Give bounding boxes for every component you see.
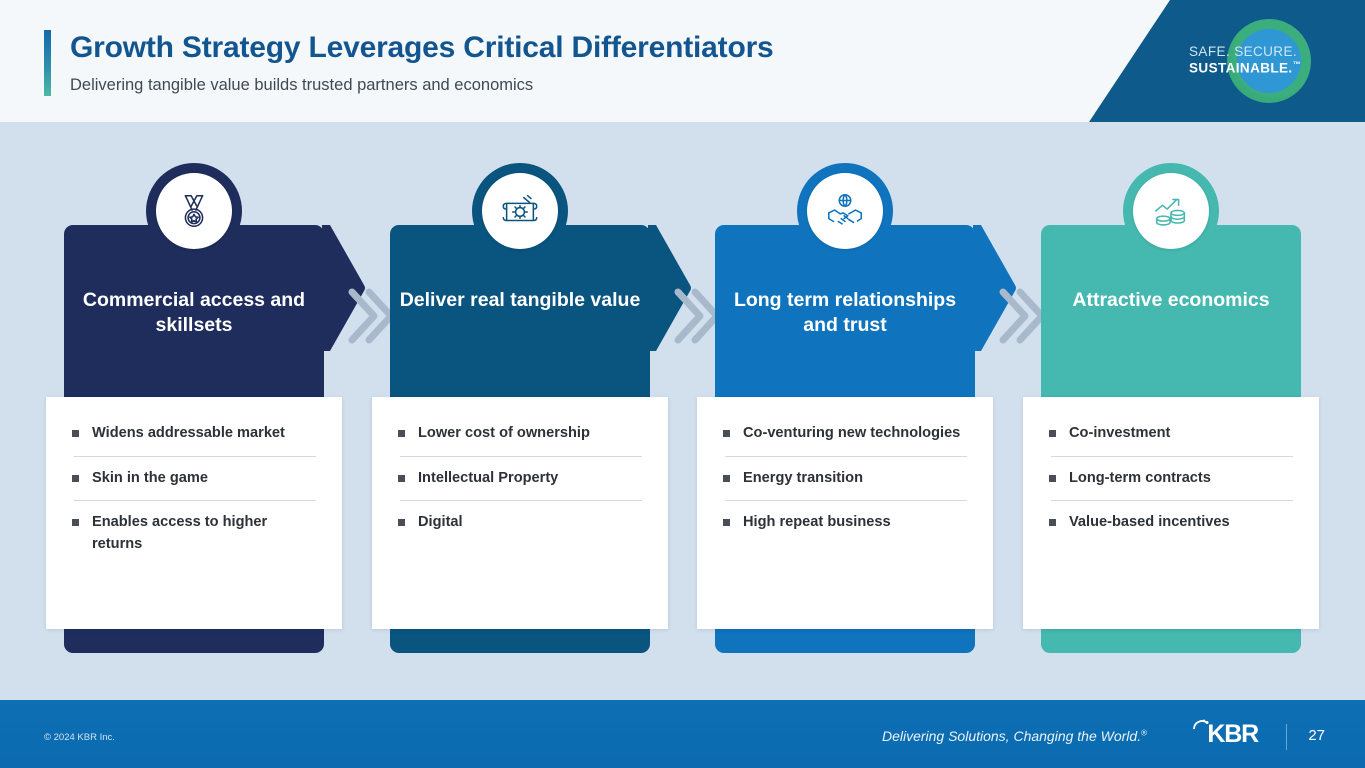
bullet-square-icon — [72, 519, 79, 526]
list-item[interactable]: Value-based incentives — [1049, 512, 1297, 534]
list-item[interactable]: Co-venturing new technologies — [723, 423, 971, 445]
list-item-label: Widens addressable market — [92, 423, 285, 445]
bullet-list: Co-venturing new technologiesEnergy tran… — [697, 397, 993, 534]
list-item-label: High repeat business — [743, 512, 891, 534]
page-number: 27 — [1308, 727, 1325, 744]
list-item-label: Intellectual Property — [418, 468, 558, 490]
stage-title: Long term relationships and trust — [715, 288, 975, 338]
bullet-square-icon — [723, 519, 730, 526]
list-item-label: Enables access to higher returns — [92, 512, 320, 555]
stage-icon-badge — [146, 163, 242, 259]
page-subtitle: Delivering tangible value builds trusted… — [70, 76, 533, 95]
list-item-label: Energy transition — [743, 468, 863, 490]
list-item[interactable]: Widens addressable market — [72, 423, 320, 445]
list-item-label: Skin in the game — [92, 468, 208, 490]
list-item-label: Lower cost of ownership — [418, 423, 590, 445]
bullet-list: Lower cost of ownershipIntellectual Prop… — [372, 397, 668, 534]
flow-arrow-icon — [348, 287, 394, 345]
list-divider — [725, 500, 967, 501]
footer-divider — [1286, 724, 1287, 750]
stage-icon-badge — [472, 163, 568, 259]
list-item-label: Digital — [418, 512, 463, 534]
bullet-square-icon — [723, 475, 730, 482]
bullet-list: Co-investmentLong-term contractsValue-ba… — [1023, 397, 1319, 534]
list-item-label: Long-term contracts — [1069, 468, 1211, 490]
list-item-label: Value-based incentives — [1069, 512, 1230, 534]
bullet-square-icon — [398, 430, 405, 437]
list-divider — [74, 456, 316, 457]
list-item-label: Co-venturing new technologies — [743, 423, 960, 445]
bullet-square-icon — [1049, 475, 1056, 482]
stage-detail-panel: Widens addressable marketSkin in the gam… — [46, 397, 342, 629]
title-accent-bar — [44, 30, 51, 96]
logo-line-1: SAFE. SECURE. — [1189, 44, 1301, 60]
coins-growth-icon — [1133, 173, 1209, 249]
list-item[interactable]: Digital — [398, 512, 646, 534]
kbr-wordmark: KBR — [1207, 722, 1258, 747]
slide-header: Growth Strategy Leverages Critical Diffe… — [0, 0, 1365, 122]
stage-title: Attractive economics — [1041, 288, 1301, 313]
bullet-square-icon — [723, 430, 730, 437]
list-divider — [400, 456, 642, 457]
stage-detail-panel: Lower cost of ownershipIntellectual Prop… — [372, 397, 668, 629]
list-item[interactable]: Co-investment — [1049, 423, 1297, 445]
flow-arrow-icon — [674, 287, 720, 345]
list-divider — [1051, 456, 1293, 457]
stage-title: Commercial access and skillsets — [64, 288, 324, 338]
list-item[interactable]: Lower cost of ownership — [398, 423, 646, 445]
stage-icon-badge — [797, 163, 893, 259]
bullet-square-icon — [1049, 519, 1056, 526]
page-title: Growth Strategy Leverages Critical Diffe… — [70, 31, 774, 65]
blueprint-gear-icon — [482, 173, 558, 249]
list-divider — [74, 500, 316, 501]
medal-icon — [156, 173, 232, 249]
bullet-square-icon — [72, 475, 79, 482]
bullet-square-icon — [398, 519, 405, 526]
list-item[interactable]: Enables access to higher returns — [72, 512, 320, 555]
flow-arrow-icon — [999, 287, 1045, 345]
list-item[interactable]: Energy transition — [723, 468, 971, 490]
stage-title: Deliver real tangible value — [390, 288, 650, 313]
list-item[interactable]: High repeat business — [723, 512, 971, 534]
handshake-globe-icon — [807, 173, 883, 249]
process-flow: Commercial access and skillsetsWidens ad… — [0, 122, 1365, 700]
stage-icon-badge — [1123, 163, 1219, 259]
tagline-text: Delivering Solutions, Changing the World… — [882, 728, 1147, 744]
bullet-square-icon — [72, 430, 79, 437]
stage-detail-panel: Co-venturing new technologiesEnergy tran… — [697, 397, 993, 629]
list-item-label: Co-investment — [1069, 423, 1170, 445]
list-item[interactable]: Intellectual Property — [398, 468, 646, 490]
slide-footer: © 2024 KBR Inc. Delivering Solutions, Ch… — [0, 700, 1365, 768]
list-item[interactable]: Long-term contracts — [1049, 468, 1297, 490]
sustainability-logo-text: SAFE. SECURE. SUSTAINABLE.™ — [1189, 44, 1301, 77]
list-divider — [1051, 500, 1293, 501]
bullet-list: Widens addressable marketSkin in the gam… — [46, 397, 342, 555]
list-divider — [725, 456, 967, 457]
logo-line-2: SUSTAINABLE.™ — [1189, 60, 1301, 77]
list-item[interactable]: Skin in the game — [72, 468, 320, 490]
list-divider — [400, 500, 642, 501]
copyright-text: © 2024 KBR Inc. — [44, 732, 115, 743]
bullet-square-icon — [398, 475, 405, 482]
bullet-square-icon — [1049, 430, 1056, 437]
stage-detail-panel: Co-investmentLong-term contractsValue-ba… — [1023, 397, 1319, 629]
